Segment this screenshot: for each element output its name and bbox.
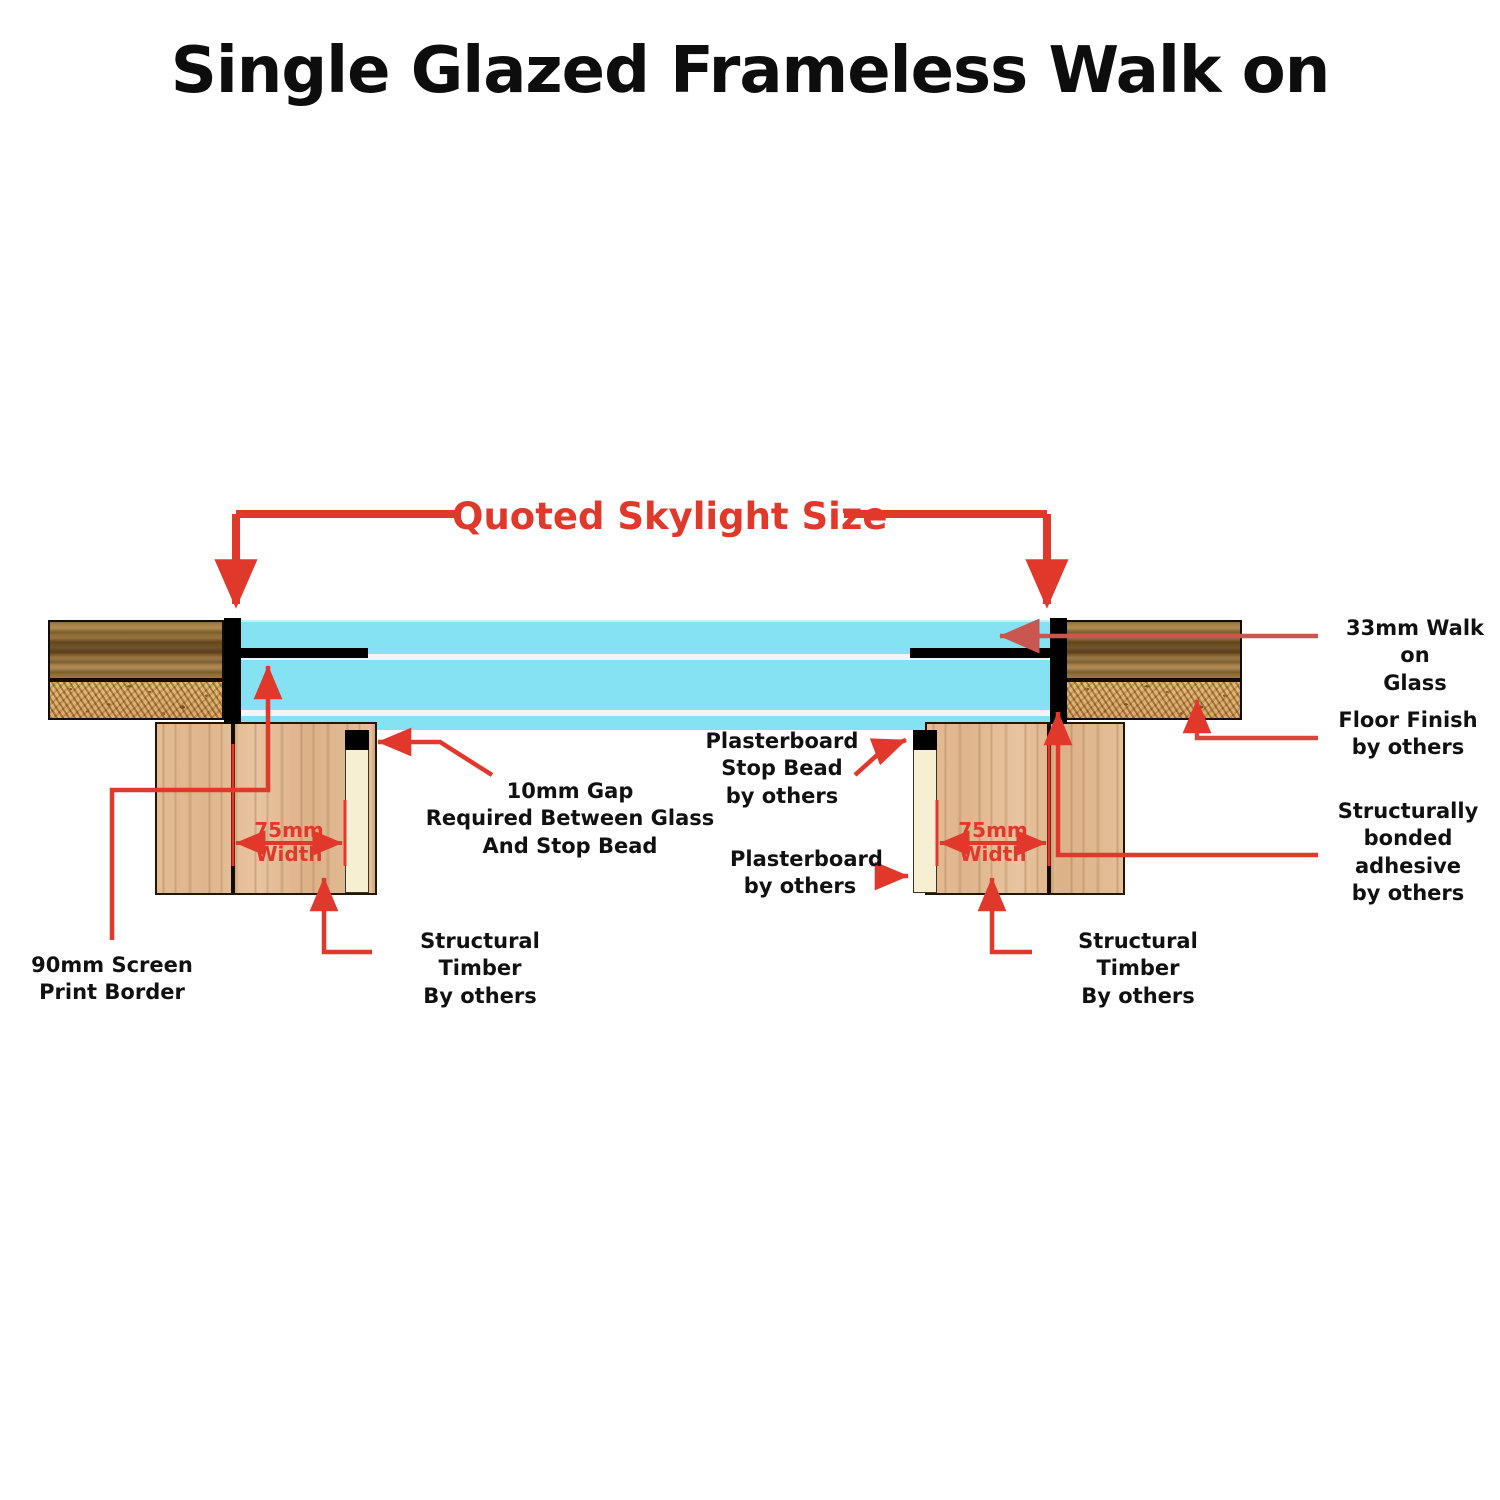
label-structural-timber-right: Structural Timber By others xyxy=(1038,928,1238,1010)
leader-10mm-gap xyxy=(378,742,492,775)
label-plasterboard: Plasterboard by others xyxy=(730,846,870,901)
leader-screen-print-border xyxy=(112,666,268,940)
leader-structural-timber-left xyxy=(324,878,372,952)
label-10mm-gap: 10mm Gap Required Between Glass And Stop… xyxy=(420,778,720,860)
leader-structural-timber-right xyxy=(992,878,1032,952)
diagram-canvas: Single Glazed Frameless Walk on xyxy=(0,0,1500,1500)
leader-bonded-adhesive xyxy=(1058,712,1318,855)
leader-floor-finish xyxy=(1197,700,1318,738)
quoted-skylight-size-label: Quoted Skylight Size xyxy=(452,495,887,538)
label-screen-print-border: 90mm Screen Print Border xyxy=(22,952,202,1007)
label-bonded-adhesive: Structurally bonded adhesive by others xyxy=(1328,798,1488,907)
label-plasterboard-stop-bead: Plasterboard Stop Bead by others xyxy=(700,728,864,810)
dimension-label-75mm-right: 75mm Width xyxy=(936,818,1050,867)
dimension-label-75mm-left: 75mm Width xyxy=(232,818,346,867)
label-33mm-walk-on-glass: 33mm Walk on Glass xyxy=(1330,615,1500,697)
label-structural-timber-left: Structural Timber By others xyxy=(380,928,580,1010)
label-floor-finish: Floor Finish by others xyxy=(1328,707,1488,762)
